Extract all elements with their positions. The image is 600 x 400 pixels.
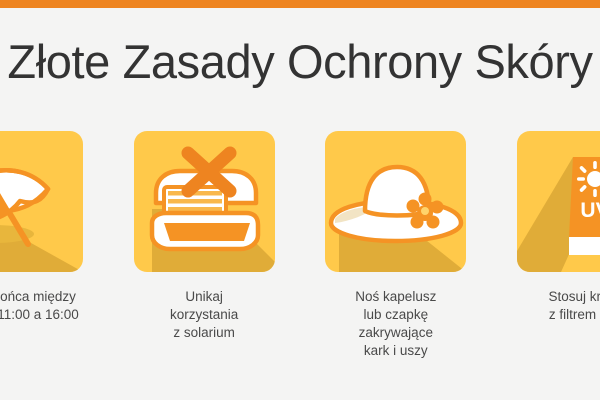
rule-card-avoid-sun: Unikaj słońca między godziną 11:00 a 16:… <box>0 131 83 356</box>
top-accent-bar <box>0 0 600 8</box>
rule-icon-tile: UV <box>517 131 600 272</box>
sun-hat-icon <box>325 131 466 272</box>
rule-caption: Stosuj kremy z filtrem SPF <box>548 288 600 324</box>
rule-caption: Noś kapelusz lub czapkę zakrywające kark… <box>325 288 466 360</box>
tanning-bed-forbidden-icon <box>134 131 275 272</box>
sunscreen-tube-icon: UV <box>517 131 600 272</box>
beach-umbrella-icon <box>0 131 83 272</box>
rule-card-use-spf: UV Stosuj kremy z filtrem SPF <box>517 131 600 356</box>
rule-card-wear-hat: Noś kapelusz lub czapkę zakrywające kark… <box>325 131 466 356</box>
rule-caption: Unikaj słońca między godziną 11:00 a 16:… <box>0 288 79 324</box>
tube-uv-label: UV <box>580 199 600 222</box>
rules-card-strip: Unikaj słońca między godziną 11:00 a 16:… <box>0 131 600 356</box>
rule-caption: Unikaj korzystania z solarium <box>170 288 238 342</box>
page-title: Złote Zasady Ochrony Skóry <box>7 26 592 98</box>
rule-icon-tile <box>325 131 466 272</box>
rule-icon-tile <box>0 131 83 272</box>
page-title-container: Złote Zasady Ochrony Skóry <box>0 26 600 98</box>
rule-card-avoid-solarium: Unikaj korzystania z solarium <box>134 131 275 356</box>
rule-icon-tile <box>134 131 275 272</box>
